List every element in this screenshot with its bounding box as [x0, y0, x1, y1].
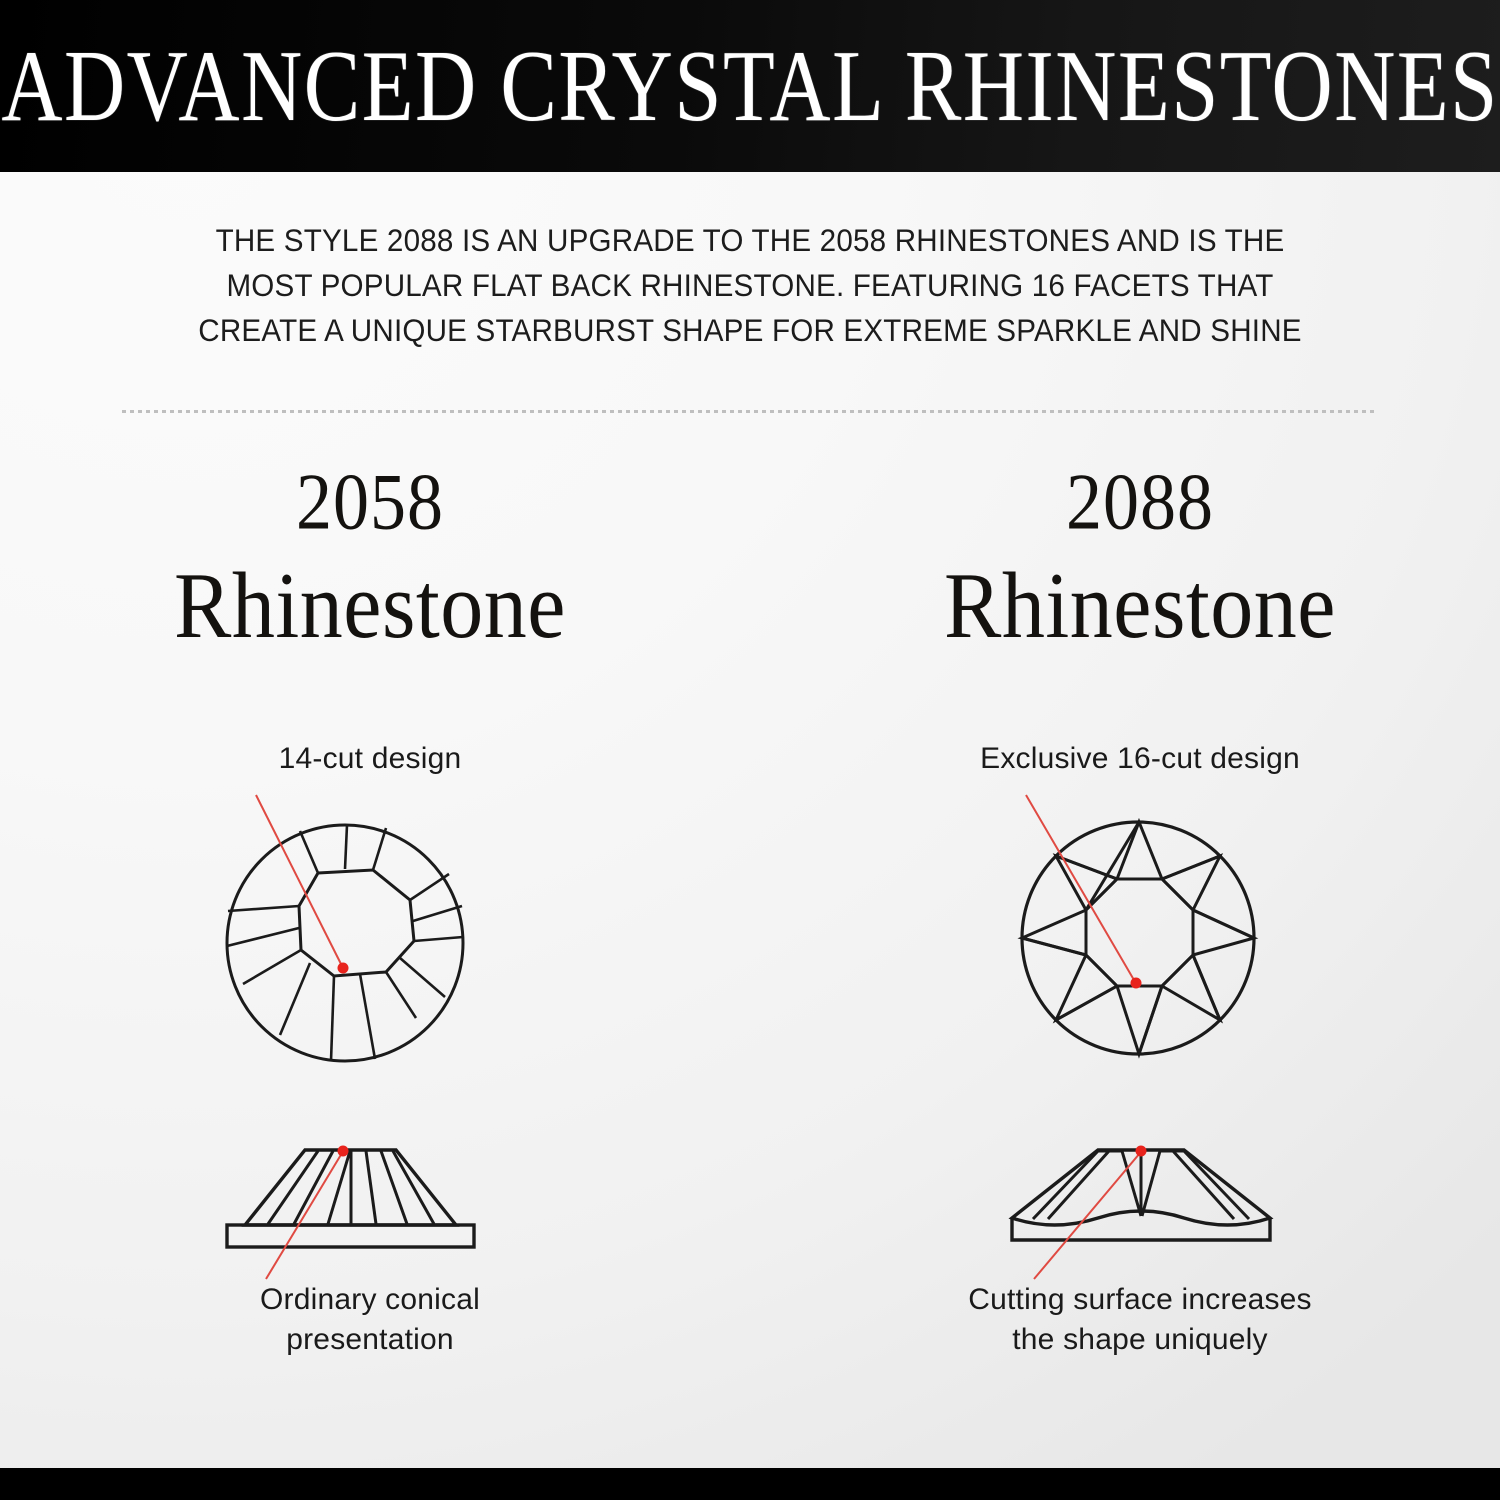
- intro-line-1: THE STYLE 2088 IS AN UPGRADE TO THE 2058…: [158, 218, 1342, 263]
- heading-2058: 2058 Rhinestone: [20, 470, 720, 644]
- infographic-page: ADVANCED CRYSTAL RHINESTONES THE STYLE 2…: [0, 0, 1500, 1500]
- crystal-2058-top-icon: [200, 778, 540, 1068]
- caption-ordinary-conical: Ordinary conical presentation: [20, 1280, 720, 1360]
- caption-line-1: Ordinary conical: [20, 1280, 720, 1320]
- column-left-2058: 2058 Rhinestone: [20, 470, 720, 644]
- intro-line-3: CREATE A UNIQUE STARBURST SHAPE FOR EXTR…: [158, 308, 1342, 353]
- diagram-2058-side-view: Ordinary conical presentation: [20, 1120, 720, 1360]
- crystal-2088-side-icon: [970, 1120, 1310, 1280]
- diagram-2088-side-view: Cutting surface increases the shape uniq…: [790, 1120, 1490, 1360]
- label-exclusive-16-cut-design: Exclusive 16-cut design: [790, 740, 1490, 778]
- heading-2058-word: Rhinestone: [20, 558, 720, 653]
- heading-2088-word: Rhinestone: [790, 558, 1490, 653]
- heading-2088-number: 2088: [790, 461, 1490, 542]
- crystal-2058-side-icon: [200, 1120, 540, 1280]
- heading-2088: 2088 Rhinestone: [790, 470, 1490, 644]
- caption-line-2: presentation: [20, 1320, 720, 1360]
- page-title: ADVANCED CRYSTAL RHINESTONES: [1, 35, 1498, 136]
- heading-2058-number: 2058: [20, 461, 720, 542]
- caption-cutting-surface: Cutting surface increases the shape uniq…: [790, 1280, 1490, 1360]
- label-14-cut-design: 14-cut design: [20, 740, 720, 778]
- diagram-2058-top-view: 14-cut design: [20, 740, 720, 1068]
- footer-bar: [0, 1468, 1500, 1500]
- caption-line-1: Cutting surface increases: [790, 1280, 1490, 1320]
- dotted-divider: [122, 410, 1378, 413]
- crystal-2088-top-icon: [970, 778, 1310, 1068]
- intro-line-2: MOST POPULAR FLAT BACK RHINESTONE. FEATU…: [158, 263, 1342, 308]
- caption-line-2: the shape uniquely: [790, 1320, 1490, 1360]
- diagram-2088-top-view: Exclusive 16-cut design: [790, 740, 1490, 1068]
- header-banner: ADVANCED CRYSTAL RHINESTONES: [0, 0, 1500, 172]
- column-right-2088: 2088 Rhinestone: [790, 470, 1490, 644]
- intro-paragraph: THE STYLE 2088 IS AN UPGRADE TO THE 2058…: [158, 218, 1342, 353]
